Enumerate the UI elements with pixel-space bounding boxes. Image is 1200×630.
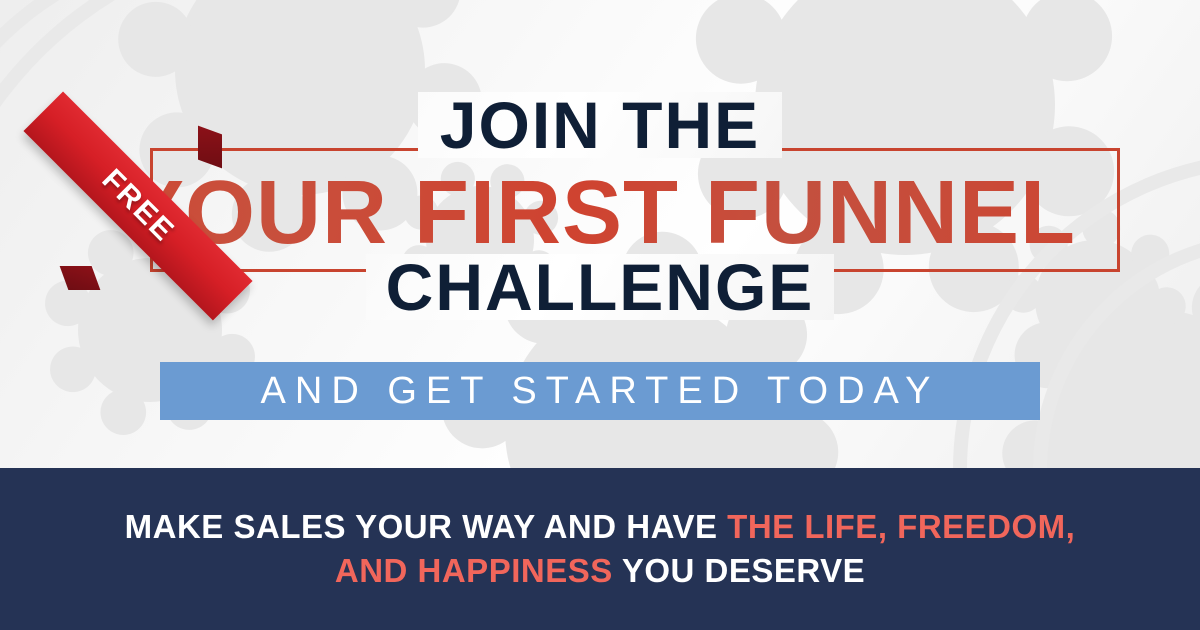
subtitle-bar: AND GET STARTED TODAY	[160, 362, 1040, 420]
hero-section: JOIN THE YOUR FIRST FUNNEL CHALLENGE FRE…	[0, 0, 1200, 468]
footer-strip: MAKE SALES YOUR WAY AND HAVE THE LIFE, F…	[0, 468, 1200, 630]
headline-line-challenge-text: CHALLENGE	[366, 254, 835, 320]
promo-banner: JOIN THE YOUR FIRST FUNNEL CHALLENGE FRE…	[0, 0, 1200, 630]
headline-line-challenge: CHALLENGE	[0, 254, 1200, 320]
headline-line-join: JOIN THE	[0, 92, 1200, 158]
headline-line-main: YOUR FIRST FUNNEL	[0, 168, 1200, 258]
footer-text-plain-2: YOU DESERVE	[613, 552, 865, 589]
subtitle-text: AND GET STARTED TODAY	[261, 372, 940, 410]
footer-text-highlight-1: THE LIFE, FREEDOM,	[727, 508, 1075, 545]
footer-text-plain-1: MAKE SALES YOUR WAY AND HAVE	[125, 508, 728, 545]
footer-text-highlight-2: AND HAPPINESS	[335, 552, 613, 589]
headline-line-join-text: JOIN THE	[418, 92, 782, 158]
footer-tagline-line-2: AND HAPPINESS YOU DESERVE	[335, 549, 865, 593]
footer-tagline-line-1: MAKE SALES YOUR WAY AND HAVE THE LIFE, F…	[125, 505, 1076, 549]
